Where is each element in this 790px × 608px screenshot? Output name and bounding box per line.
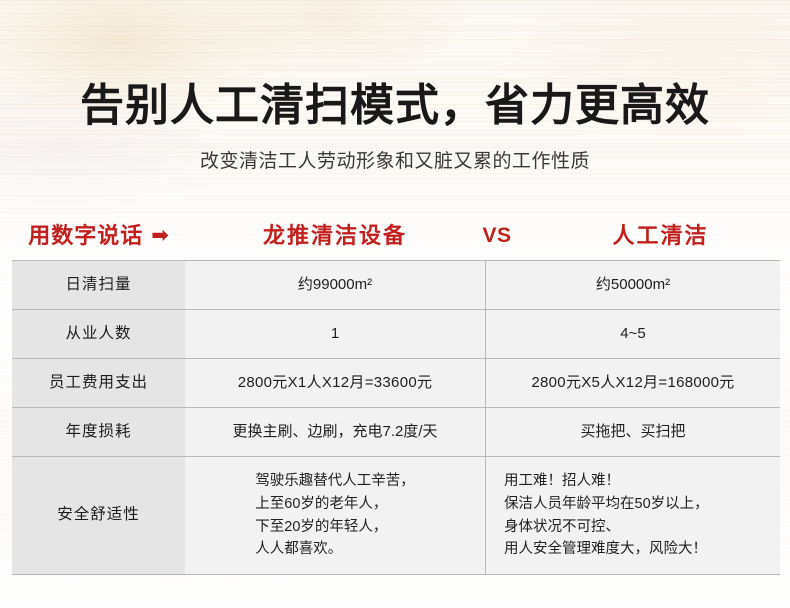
table-row: 从业人数 1 4~5 xyxy=(12,310,780,359)
table-row: 员工费用支出 2800元X1人X12月=33600元 2800元X5人X12月=… xyxy=(12,359,780,408)
versus-label: VS xyxy=(452,219,542,253)
cell-manual-lines: 用工难！招人难！保洁人员年龄平均在50岁以上，身体状况不可控、用人安全管理难度大… xyxy=(486,470,780,562)
cell-product: 约99000m² xyxy=(185,261,486,310)
speak-with-numbers-label: 用数字说话 xyxy=(28,223,143,248)
arrow-right-icon: ➡ xyxy=(151,219,169,253)
row-label: 日清扫量 xyxy=(12,261,185,310)
cell-product: 2800元X1人X12月=33600元 xyxy=(185,359,486,408)
comparison-header: 用数字说话➡ 龙推清洁设备 VS 人工清洁 xyxy=(12,219,779,253)
cell-manual: 2800元X5人X12月=168000元 xyxy=(486,359,781,408)
speak-with-numbers-group: 用数字说话➡ xyxy=(12,219,185,254)
row-label: 从业人数 xyxy=(12,310,185,359)
cell-manual: 4~5 xyxy=(486,310,781,359)
table-row: 安全舒适性 驾驶乐趣替代人工辛苦，上至60岁的老年人，下至20岁的年轻人，人人都… xyxy=(12,457,780,575)
row-label: 年度损耗 xyxy=(12,408,185,457)
cell-product-lines: 驾驶乐趣替代人工辛苦，上至60岁的老年人，下至20岁的年轻人，人人都喜欢。 xyxy=(255,470,415,562)
row-label: 安全舒适性 xyxy=(12,457,185,575)
page-subtitle: 改变清洁工人劳动形象和又脏又累的工作性质 xyxy=(0,152,790,171)
promo-page: 告别人工清扫模式，省力更高效 改变清洁工人劳动形象和又脏又累的工作性质 用数字说… xyxy=(0,0,790,608)
cell-product: 更换主刷、边刷，充电7.2度/天 xyxy=(185,408,486,457)
cell-product: 1 xyxy=(185,310,486,359)
table-row: 年度损耗 更换主刷、边刷，充电7.2度/天 买拖把、买扫把 xyxy=(12,408,780,457)
comparison-table: 日清扫量 约99000m² 约50000m² 从业人数 1 4~5 员工费用支出… xyxy=(12,260,780,575)
cell-product: 驾驶乐趣替代人工辛苦，上至60岁的老年人，下至20岁的年轻人，人人都喜欢。 xyxy=(185,457,486,575)
row-label: 员工费用支出 xyxy=(12,359,185,408)
cell-manual: 约50000m² xyxy=(486,261,781,310)
cell-manual: 用工难！招人难！保洁人员年龄平均在50岁以上，身体状况不可控、用人安全管理难度大… xyxy=(486,457,781,575)
column-header-product: 龙推清洁设备 xyxy=(185,219,485,253)
page-title: 告别人工清扫模式，省力更高效 xyxy=(0,84,790,128)
table-row: 日清扫量 约99000m² 约50000m² xyxy=(12,261,780,310)
cell-manual: 买拖把、买扫把 xyxy=(486,408,781,457)
column-header-manual: 人工清洁 xyxy=(542,219,779,253)
